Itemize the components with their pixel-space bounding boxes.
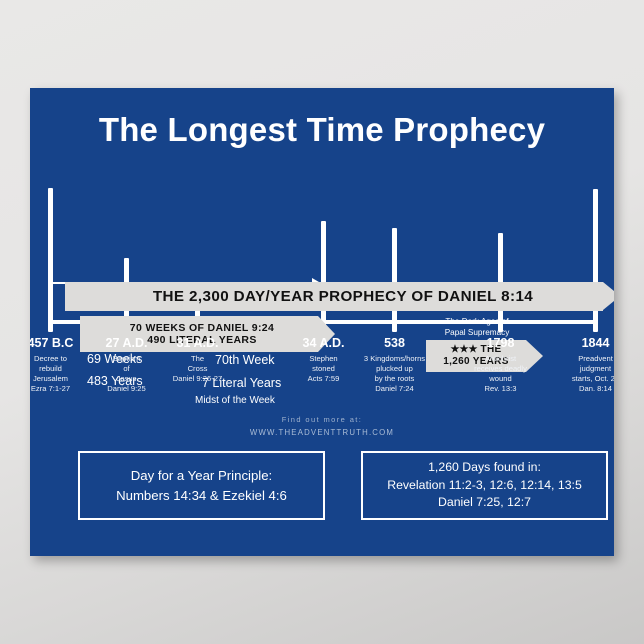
timeline-date-description: TheCrossDaniel 9:26-27 (152, 354, 244, 384)
label-dark-ages: The Dark Ages of Papal Supremacy (407, 316, 547, 338)
box-day-for-year-principle: Day for a Year Principle: Numbers 14:34 … (78, 451, 325, 520)
banner-main-text: THE 2,300 DAY/YEAR PROPHECY OF DANIEL 8:… (65, 288, 603, 306)
label-dark-ages-line1: The Dark Ages of (445, 317, 508, 326)
timeline-date-description: 3 Kingdoms/hornsplucked upby the rootsDa… (347, 354, 443, 394)
timeline-date-description: Antichristreceives deadlywoundRev. 13:3 (451, 354, 551, 394)
box-right-line3: Daniel 7:25, 12:7 (438, 495, 531, 509)
timeline-date-year: 457 B.C (30, 336, 93, 350)
banner-70weeks-line1: 70 WEEKS OF DANIEL 9:24 (130, 322, 274, 334)
poster: The Longest Time Prophecy THE 2,300 DAY/… (30, 88, 614, 556)
timeline-stage: THE 2,300 DAY/YEAR PROPHECY OF DANIEL 8:… (30, 88, 614, 556)
timeline-date-column: 31 A.D.TheCrossDaniel 9:26-27 (152, 336, 244, 384)
timeline-date-year: 1798 (451, 336, 551, 350)
tick-538 (392, 228, 397, 332)
timeline-date-column: 457 B.CDecree torebuildJerusalemEzra 7:1… (30, 336, 93, 394)
label-midst-of-week: Midst of the Week (195, 395, 275, 406)
banner-main-arrow-point (603, 282, 614, 310)
timeline-date-year: 31 A.D. (152, 336, 244, 350)
box-right-line2: Revelation 11:2-3, 12:6, 12:14, 13:5 (387, 478, 582, 492)
timeline-date-column: 1844Preadventjudgmentstarts, Oct. 22Dan.… (550, 336, 615, 394)
box-left-line1: Day for a Year Principle: (131, 468, 272, 483)
timeline-date-year: 1844 (550, 336, 615, 350)
banner-2300-day-year-prophecy: THE 2,300 DAY/YEAR PROPHECY OF DANIEL 8:… (65, 282, 603, 311)
timeline-date-description: Decree torebuildJerusalemEzra 7:1-27 (30, 354, 93, 394)
box-right-line1: 1,260 Days found in: (428, 460, 541, 474)
box-1260-days-found-in: 1,260 Days found in: Revelation 11:2-3, … (361, 451, 608, 520)
timeline-date-year: 538 (347, 336, 443, 350)
timeline-date-description: Preadventjudgmentstarts, Oct. 22Dan. 8:1… (550, 354, 615, 394)
timeline-date-column: 1798Antichristreceives deadlywoundRev. 1… (451, 336, 551, 394)
box-left-line2: Numbers 14:34 & Ezekiel 4:6 (116, 488, 287, 503)
tick-457bc (48, 188, 53, 332)
website-url: WWW.THEADVENTTRUTH.COM (250, 428, 394, 437)
find-out-more-label: Find out more at: (282, 415, 363, 424)
find-out-more: Find out more at: WWW.THEADVENTTRUTH.COM (30, 413, 614, 439)
timeline-date-column: 5383 Kingdoms/hornsplucked upby the root… (347, 336, 443, 394)
